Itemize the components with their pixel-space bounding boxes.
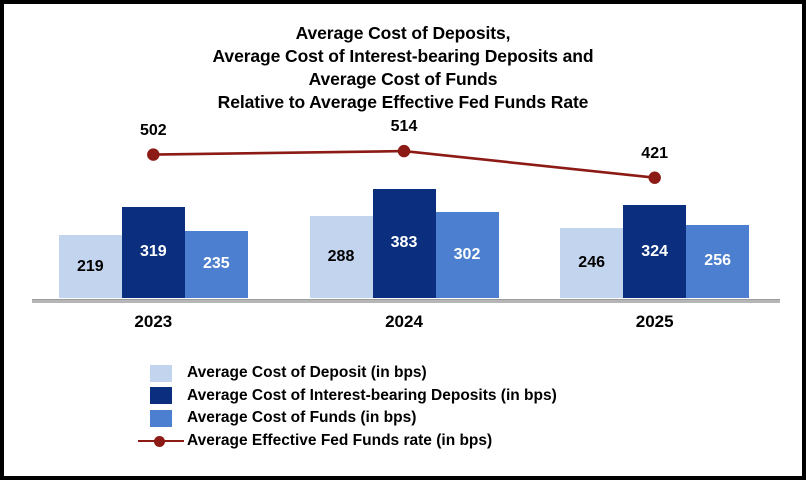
x-axis-line <box>32 299 780 303</box>
bar-value-label: 302 <box>436 247 499 263</box>
line-value-label: 502 <box>140 123 167 139</box>
legend-swatch-cell <box>135 410 187 427</box>
legend-item-2[interactable]: Average Cost of Funds (in bps) <box>135 407 735 430</box>
legend-item-3[interactable]: Average Effective Fed Funds rate (in bps… <box>135 430 735 453</box>
bar-2024-series-1: 383 <box>373 189 436 298</box>
legend-dot-icon <box>154 436 165 447</box>
bar-value-label: 383 <box>373 235 436 251</box>
legend-label: Average Cost of Interest-bearing Deposit… <box>187 387 557 405</box>
category-label-2025: 2025 <box>636 312 674 332</box>
bar-value-label: 219 <box>59 259 122 275</box>
legend-swatch-cell <box>135 387 187 404</box>
bar-2023-series-0: 219 <box>59 235 122 298</box>
bar-2024-series-2: 302 <box>436 212 499 298</box>
legend-swatch-cell <box>135 434 187 448</box>
title-line-4: Relative to Average Effective Fed Funds … <box>4 91 802 114</box>
plot-area: 219319235288383302246324256 <box>28 138 780 298</box>
bar-2024-series-0: 288 <box>310 216 373 298</box>
legend-swatch-cell <box>135 365 187 382</box>
bar-value-label: 235 <box>185 256 248 272</box>
title-line-3: Average Cost of Funds <box>4 68 802 91</box>
chart-canvas: Average Cost of Deposits, Average Cost o… <box>4 4 802 476</box>
page-title: Average Cost of Deposits, Average Cost o… <box>4 22 802 114</box>
legend-item-1[interactable]: Average Cost of Interest-bearing Deposit… <box>135 385 735 408</box>
category-label-2024: 2024 <box>385 312 423 332</box>
bar-value-label: 256 <box>686 253 749 269</box>
chart-legend: Average Cost of Deposit (in bps)Average … <box>135 362 735 452</box>
title-line-1: Average Cost of Deposits, <box>4 22 802 45</box>
legend-square-icon <box>150 365 172 382</box>
line-value-label: 514 <box>391 119 418 135</box>
bar-2025-series-0: 246 <box>560 228 623 298</box>
title-line-2: Average Cost of Interest-bearing Deposit… <box>4 45 802 68</box>
bar-value-label: 319 <box>122 244 185 260</box>
legend-label: Average Cost of Deposit (in bps) <box>187 364 427 382</box>
legend-label: Average Cost of Funds (in bps) <box>187 409 416 427</box>
bar-2023-series-2: 235 <box>185 231 248 298</box>
legend-square-icon <box>150 410 172 427</box>
bar-2023-series-1: 319 <box>122 207 185 298</box>
legend-line-marker-icon <box>138 434 184 448</box>
chart-frame: Average Cost of Deposits, Average Cost o… <box>0 0 806 480</box>
category-axis: 202320242025 <box>28 312 780 338</box>
legend-square-icon <box>150 387 172 404</box>
bar-value-label: 288 <box>310 249 373 265</box>
bar-value-label: 324 <box>623 244 686 260</box>
bar-2025-series-1: 324 <box>623 205 686 298</box>
legend-label: Average Effective Fed Funds rate (in bps… <box>187 432 492 450</box>
category-label-2023: 2023 <box>134 312 172 332</box>
bar-2025-series-2: 256 <box>686 225 749 298</box>
bar-value-label: 246 <box>560 255 623 271</box>
legend-item-0[interactable]: Average Cost of Deposit (in bps) <box>135 362 735 385</box>
